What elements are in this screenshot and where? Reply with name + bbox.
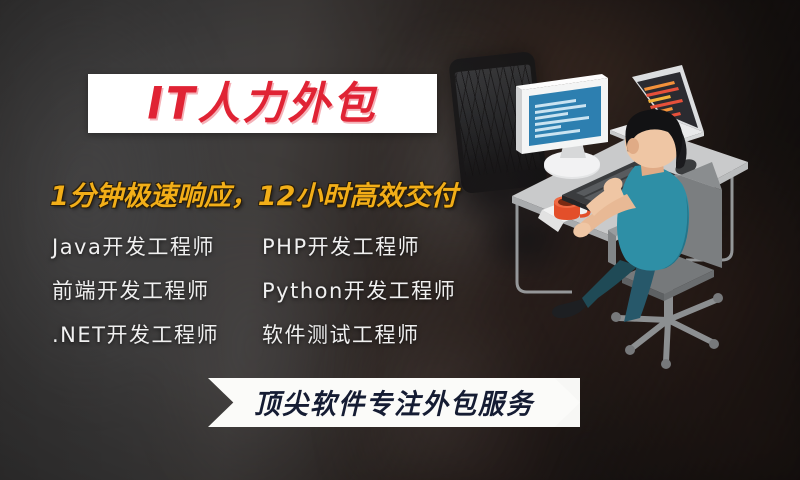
poster-canvas: IT人力外包 1分钟极速响应，12小时高效交付 Java开发工程师 PHP开发工… [0, 0, 800, 480]
role-item: 软件测试工程师 [262, 319, 502, 349]
bottom-ribbon: 顶尖软件专注外包服务 [208, 378, 580, 427]
role-item: PHP开发工程师 [262, 231, 502, 261]
role-item: 前端开发工程师 [52, 275, 262, 305]
developer-illustration [490, 70, 800, 370]
monitor [516, 74, 608, 179]
ribbon-text: 顶尖软件专注外包服务 [254, 383, 534, 422]
page-title: IT人力外包 [147, 81, 377, 125]
role-list: Java开发工程师 PHP开发工程师 前端开发工程师 Python开发工程师 .… [52, 224, 502, 356]
role-item: Python开发工程师 [262, 275, 502, 305]
subtitle-text: 1分钟极速响应，12小时高效交付 [50, 174, 520, 213]
ribbon-inner: 顶尖软件专注外包服务 [208, 378, 580, 427]
role-item: .NET开发工程师 [52, 319, 262, 349]
role-item: Java开发工程师 [52, 231, 262, 261]
title-banner: IT人力外包 [88, 74, 437, 133]
